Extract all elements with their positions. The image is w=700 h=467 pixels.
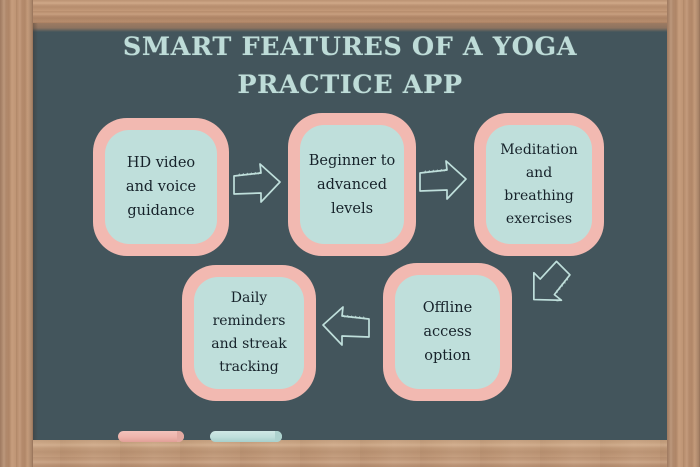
step-label: Daily reminders and streak tracking <box>211 287 286 379</box>
yoga-app-features-infographic: SMART FEATURES OF A YOGA PRACTICE APP HD… <box>0 0 700 467</box>
step-box-inner: HD video and voice guidance <box>105 130 217 244</box>
board-inner-shadow-top <box>33 23 667 32</box>
frame-left <box>0 0 33 467</box>
frame-top <box>0 0 700 23</box>
board-inner-shadow-left <box>33 23 38 440</box>
chalk-stick-mint <box>210 431 282 442</box>
step-label: Offline access option <box>423 296 472 368</box>
page-title: SMART FEATURES OF A YOGA PRACTICE APP <box>110 28 590 104</box>
step-label: Beginner to advanced levels <box>309 149 396 221</box>
step-box-beginner-to-advanced-levels[interactable]: Beginner to advanced levels <box>288 113 416 256</box>
arrow-down-left-icon <box>521 258 575 310</box>
step-label: Meditation and breathing exercises <box>494 139 584 231</box>
step-box-offline-access-option[interactable]: Offline access option <box>383 263 512 401</box>
step-box-inner: Beginner to advanced levels <box>300 125 404 244</box>
step-label: HD video and voice guidance <box>126 151 196 223</box>
arrow-right-icon <box>231 160 283 208</box>
frame-right <box>667 0 700 467</box>
chalk-stick-pink <box>118 431 184 442</box>
arrow-right-icon <box>417 157 469 205</box>
step-box-hd-video-and-voice-guidance[interactable]: HD video and voice guidance <box>93 118 229 256</box>
step-box-inner: Daily reminders and streak tracking <box>194 277 304 389</box>
step-box-daily-reminders-streak-tracking[interactable]: Daily reminders and streak tracking <box>182 265 316 401</box>
arrow-left-icon <box>318 303 372 351</box>
frame-bottom-ledge <box>0 440 700 467</box>
step-box-inner: Meditation and breathing exercises <box>486 125 592 244</box>
step-box-meditation-and-breathing[interactable]: Meditation and breathing exercises <box>474 113 604 256</box>
step-box-inner: Offline access option <box>395 275 500 389</box>
